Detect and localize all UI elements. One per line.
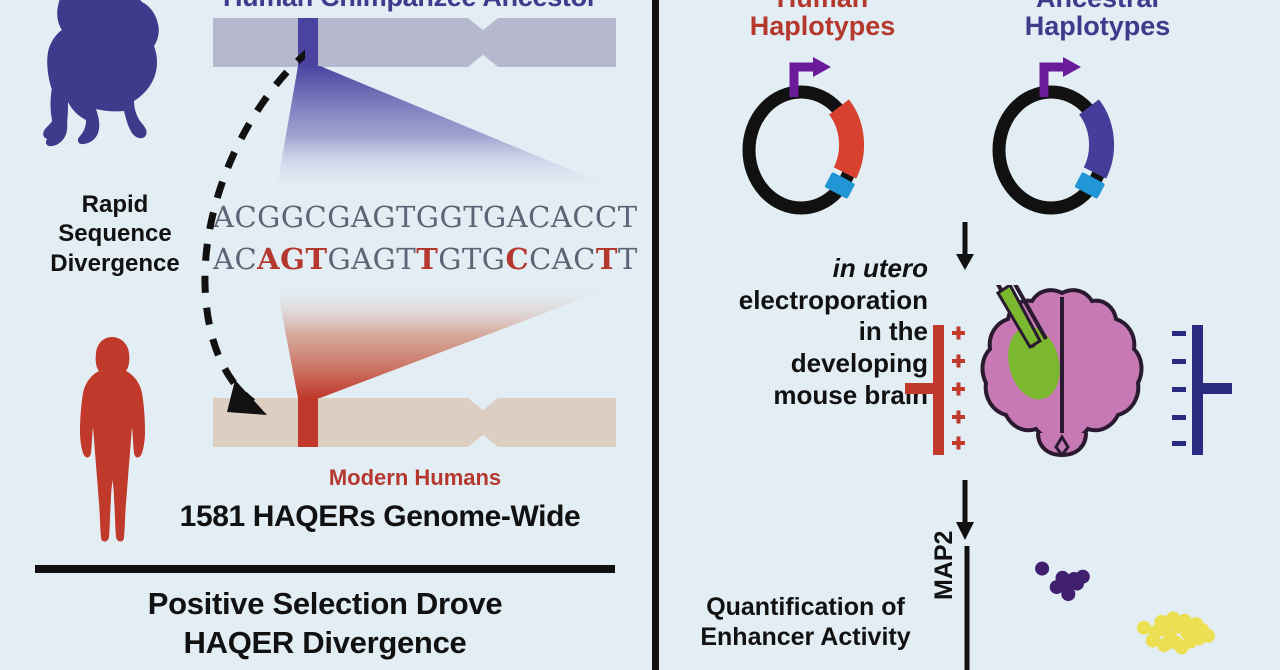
base-5: G [328, 242, 352, 276]
base-7: G [372, 200, 396, 234]
base-9: T [416, 242, 438, 276]
positive-electrode-icon [905, 325, 967, 460]
human-hap-line-2: Haplotypes [705, 12, 940, 40]
base-10: G [438, 242, 462, 276]
base-7: G [373, 242, 397, 276]
human-haplotypes-title: Human Haplotypes [705, 0, 940, 41]
base-17: T [596, 242, 618, 276]
base-6: A [351, 200, 372, 234]
base-18: T [618, 242, 638, 276]
base-6: A [351, 242, 372, 276]
anc-hap-line-2: Haplotypes [960, 12, 1235, 40]
negative-electrode-icon [1168, 325, 1234, 460]
scatter-point [1192, 631, 1206, 645]
base-15: A [552, 242, 573, 276]
rapid-line-2: Sequence [40, 219, 190, 248]
vertical-divider [652, 0, 659, 670]
base-11: T [463, 200, 483, 234]
base-17: C [595, 200, 618, 234]
scatter-point [1172, 620, 1186, 634]
caption-line-1: Positive Selection Drove [20, 585, 630, 624]
scatter-point [1157, 638, 1171, 652]
quant-line-1: Quantification of [663, 592, 948, 622]
base-5: G [327, 200, 351, 234]
rapid-divergence-label: Rapid Sequence Divergence [40, 190, 190, 278]
zoom-fan-human [276, 283, 624, 408]
rapid-line-1: Rapid [40, 190, 190, 219]
scatter-point [1160, 617, 1174, 631]
base-14: C [529, 242, 552, 276]
figure-canvas: Human Chimpanzee Ancestor ACGGCGAGTGGTGA… [0, 0, 1280, 670]
quant-line-2: Enhancer Activity [663, 622, 948, 652]
iue-line-2: electroporation [663, 285, 928, 317]
ancestor-title: Human Chimpanzee Ancestor [180, 0, 640, 13]
base-13: C [505, 242, 529, 276]
base-16: C [573, 242, 596, 276]
base-13: A [507, 200, 528, 234]
scatter-point [1035, 562, 1049, 576]
iue-line-3: in the [663, 316, 928, 348]
modern-humans-title: Modern Humans [215, 465, 615, 491]
zoom-fan-ancestral [276, 66, 624, 206]
electroporation-label: in utero electroporation in the developi… [663, 253, 928, 412]
plasmid-ancestral-haplotype [985, 55, 1135, 225]
base-15: A [551, 200, 572, 234]
divergence-arrow-icon [175, 40, 305, 435]
iue-line-1: in utero [663, 253, 928, 285]
iue-line-4: developing [663, 348, 928, 380]
y-axis-label: MAP2 [930, 531, 959, 600]
flow-arrow-1-icon [950, 222, 980, 277]
horizontal-divider [35, 565, 615, 573]
scatter-plot [963, 546, 1280, 670]
base-14: C [528, 200, 551, 234]
base-12: G [483, 200, 507, 234]
left-panel-caption: Positive Selection Drove HAQER Divergenc… [20, 585, 630, 663]
base-8: T [396, 200, 416, 234]
scatter-point [1169, 636, 1183, 650]
base-4: T [305, 242, 327, 276]
rapid-line-3: Divergence [40, 249, 190, 278]
quantification-label: Quantification of Enhancer Activity [663, 592, 948, 652]
base-9: G [416, 200, 440, 234]
haqer-count-label: 1581 HAQERs Genome-Wide [120, 500, 640, 534]
base-11: T [462, 242, 482, 276]
base-10: G [440, 200, 464, 234]
iue-line-5: mouse brain [663, 380, 928, 412]
caption-line-2: HAQER Divergence [20, 624, 630, 663]
mouse-brain-illustration [968, 285, 1158, 465]
base-18: T [618, 200, 638, 234]
base-16: C [572, 200, 595, 234]
base-12: G [482, 242, 506, 276]
scatter-point [1070, 577, 1084, 591]
base-4: C [305, 200, 328, 234]
ancestral-haplotypes-title: Ancestral Haplotypes [960, 0, 1235, 41]
plasmid-human-haplotype [735, 55, 885, 225]
base-8: T [396, 242, 416, 276]
